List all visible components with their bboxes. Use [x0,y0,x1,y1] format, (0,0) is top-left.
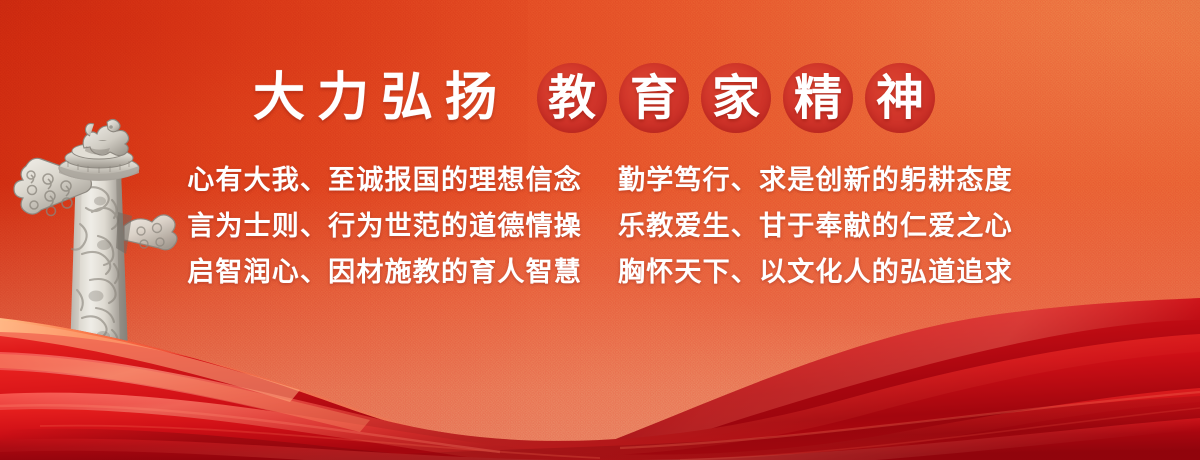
title-plain-part: 大 力 弘 扬 [253,72,509,124]
propaganda-banner: 大 力 弘 扬 教 育 家 精 神 心有大我、至诚报国的理想信念 言为士则、行为… [0,0,1200,460]
title-char-3: 弘 [381,72,433,124]
slogan-line: 启智润心、因材施教的育人智慧 [187,250,582,296]
slogan-column-left: 心有大我、至诚报国的理想信念 言为士则、行为世范的道德情操 启智润心、因材施教的… [187,158,582,296]
title-badge-char-5: 神 [865,63,935,133]
slogan-line: 心有大我、至诚报国的理想信念 [187,158,582,204]
title-badge-char-4: 精 [783,63,853,133]
slogan-column-right: 勤学笃行、求是创新的躬耕态度 乐教爱生、甘于奉献的仁爱之心 胸怀天下、以文化人的… [618,158,1013,296]
title-badge-char-2: 育 [619,63,689,133]
title-badge-char-3: 家 [701,63,771,133]
title-badge-label-1: 教 [548,74,596,122]
title-char-2: 力 [317,72,369,124]
slogan-block: 心有大我、至诚报国的理想信念 言为士则、行为世范的道德情操 启智润心、因材施教的… [0,158,1200,296]
slogan-line: 言为士则、行为世范的道德情操 [187,204,582,250]
title-badge-part: 教 育 家 精 神 [537,63,947,133]
slogan-line: 乐教爱生、甘于奉献的仁爱之心 [618,204,1013,250]
title-char-4: 扬 [445,72,497,124]
title-badge-label-3: 家 [712,74,760,122]
title-badge-label-4: 精 [794,74,842,122]
slogan-line: 勤学笃行、求是创新的躬耕态度 [618,158,1013,204]
slogan-line: 胸怀天下、以文化人的弘道追求 [618,250,1013,296]
title-badge-label-2: 育 [630,74,678,122]
title-char-1: 大 [253,72,305,124]
title-badge-label-5: 神 [876,74,924,122]
title-badge-char-1: 教 [537,63,607,133]
banner-title: 大 力 弘 扬 教 育 家 精 神 [0,58,1200,138]
